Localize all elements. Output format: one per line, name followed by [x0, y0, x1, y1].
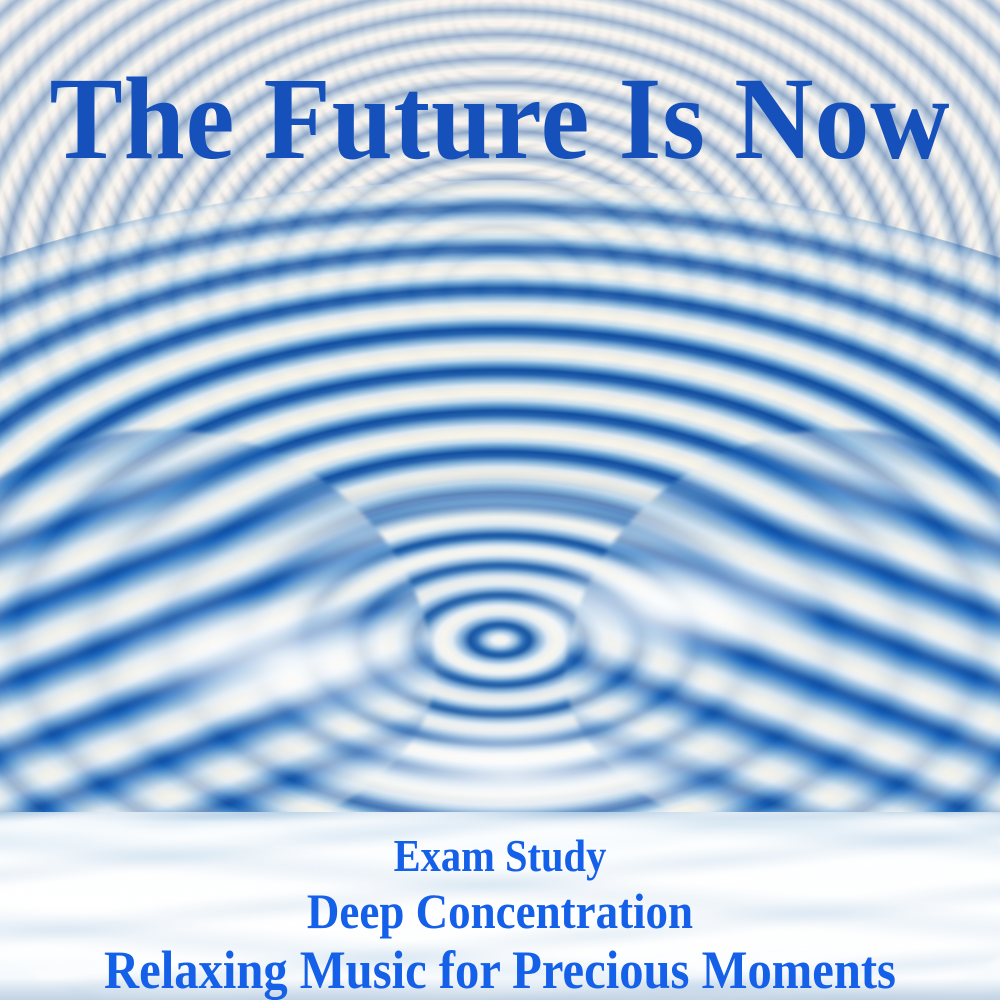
subtitle-line-2: Deep Concentration: [50, 882, 950, 940]
subtitle-line-1: Exam Study: [50, 830, 950, 882]
caption-band: Exam Study Deep Concentration Relaxing M…: [0, 812, 1000, 1000]
subtitle-line-3: Relaxing Music for Precious Moments: [50, 940, 950, 1000]
album-title: The Future Is Now: [35, 60, 965, 178]
subtitle-block: Exam Study Deep Concentration Relaxing M…: [0, 830, 1000, 1000]
album-cover: The Future Is Now Exam Study Deep Concen…: [0, 0, 1000, 1000]
